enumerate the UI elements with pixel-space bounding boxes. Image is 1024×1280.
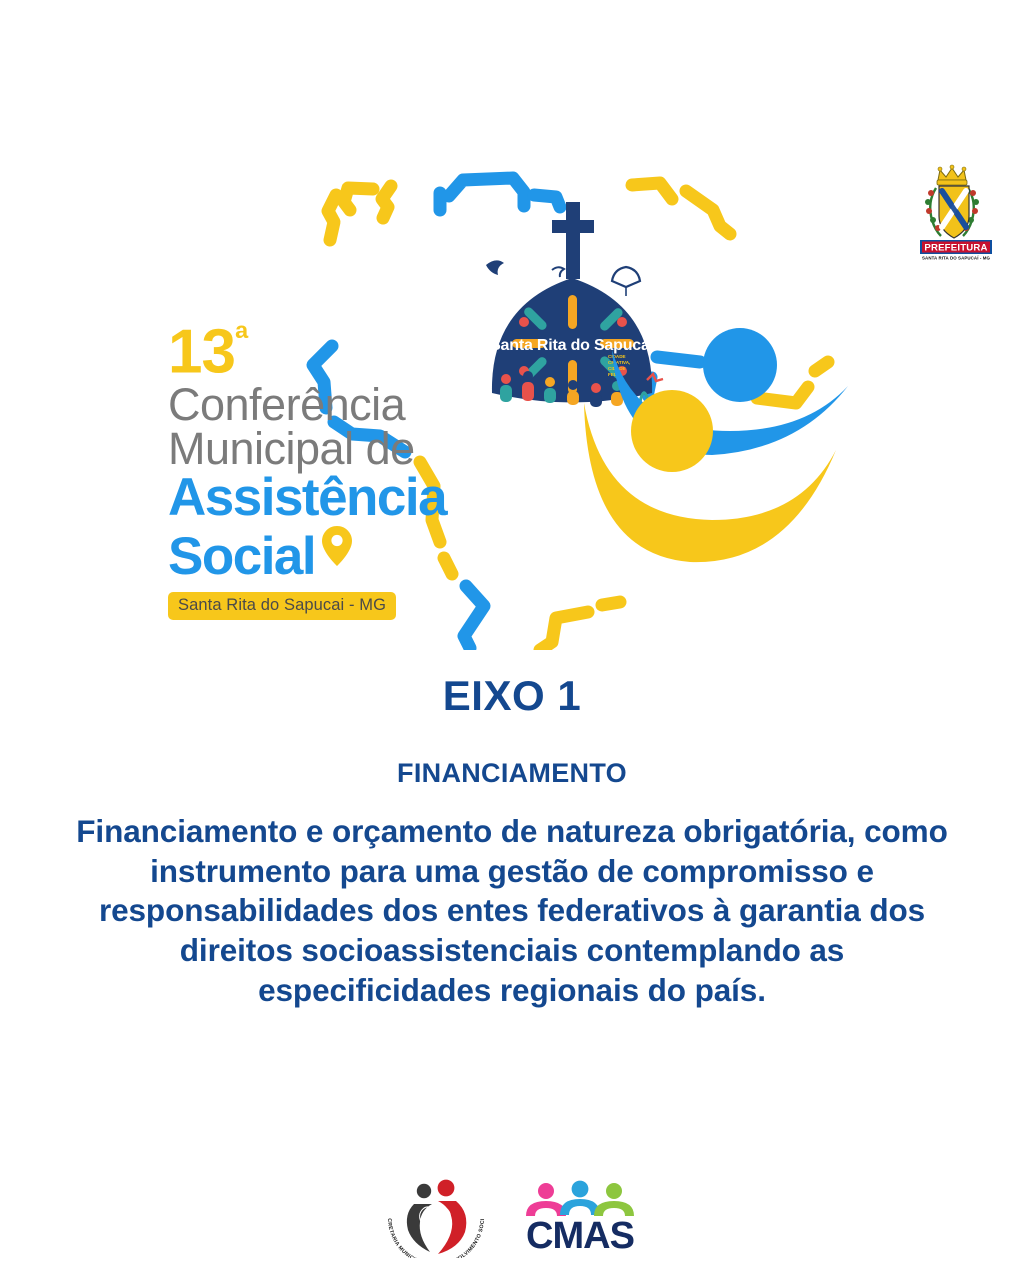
footer-logos: SECRETARIA MUNICIPAL DE DESENVOLVIMENTO …: [0, 1168, 1024, 1264]
city-badge: Santa Rita do Sapucai - MG: [168, 592, 396, 620]
edition-ordinal: ª: [235, 318, 247, 359]
cmas-figure-pink-head: [538, 1183, 554, 1199]
eixo-title: EIXO 1: [0, 672, 1024, 720]
secretaria-municipal-logo: SECRETARIA MUNICIPAL DE DESENVOLVIMENTO …: [380, 1174, 492, 1258]
figure-head: [703, 328, 777, 402]
line-conferencia: Conferência: [168, 383, 528, 428]
figure-head-red: [438, 1180, 455, 1197]
figure-body-red: [438, 1201, 466, 1254]
edition-digits: 13: [168, 318, 235, 387]
edition-number: 13ª: [168, 322, 528, 383]
eixo-description: Financiamento e orçamento de natureza ob…: [72, 812, 952, 1010]
line-social: Social: [168, 531, 315, 583]
cmas-figure-blue-body: [560, 1199, 600, 1215]
figure-accent-dot: [631, 390, 713, 472]
line-assistencia: Assistência: [168, 472, 528, 524]
line-municipal: Municipal de: [168, 427, 528, 472]
svg-text:CRIATIVA,: CRIATIVA,: [608, 360, 630, 365]
cmas-figure-blue-head: [572, 1181, 589, 1198]
cmas-figure-green-head: [606, 1183, 622, 1199]
svg-text:CIDADE: CIDADE: [608, 354, 626, 359]
small-bird-icon: [552, 267, 564, 277]
cmas-figure-pink-body: [526, 1201, 566, 1216]
cmas-logo: CMAS: [516, 1178, 644, 1254]
smds-arc-text: SECRETARIA MUNICIPAL DE DESENVOLVIMENTO …: [380, 1174, 486, 1258]
conference-lockup: 13ª Conferência Municipal de Assistência…: [168, 322, 528, 620]
conference-poster: PREFEITURA SANTA RITA DO SAPUCAÍ - MG: [0, 0, 1024, 1280]
map-pin-icon: [321, 524, 353, 573]
eixo-subtitle: FINANCIAMENTO: [0, 758, 1024, 789]
bird-icon: [486, 260, 504, 275]
figure-body-dark: [407, 1204, 432, 1252]
cmas-wordmark: CMAS: [526, 1215, 634, 1254]
cmas-figure-green-body: [594, 1201, 634, 1216]
figure-head-dark: [417, 1184, 431, 1198]
kite-icon: [612, 267, 640, 287]
